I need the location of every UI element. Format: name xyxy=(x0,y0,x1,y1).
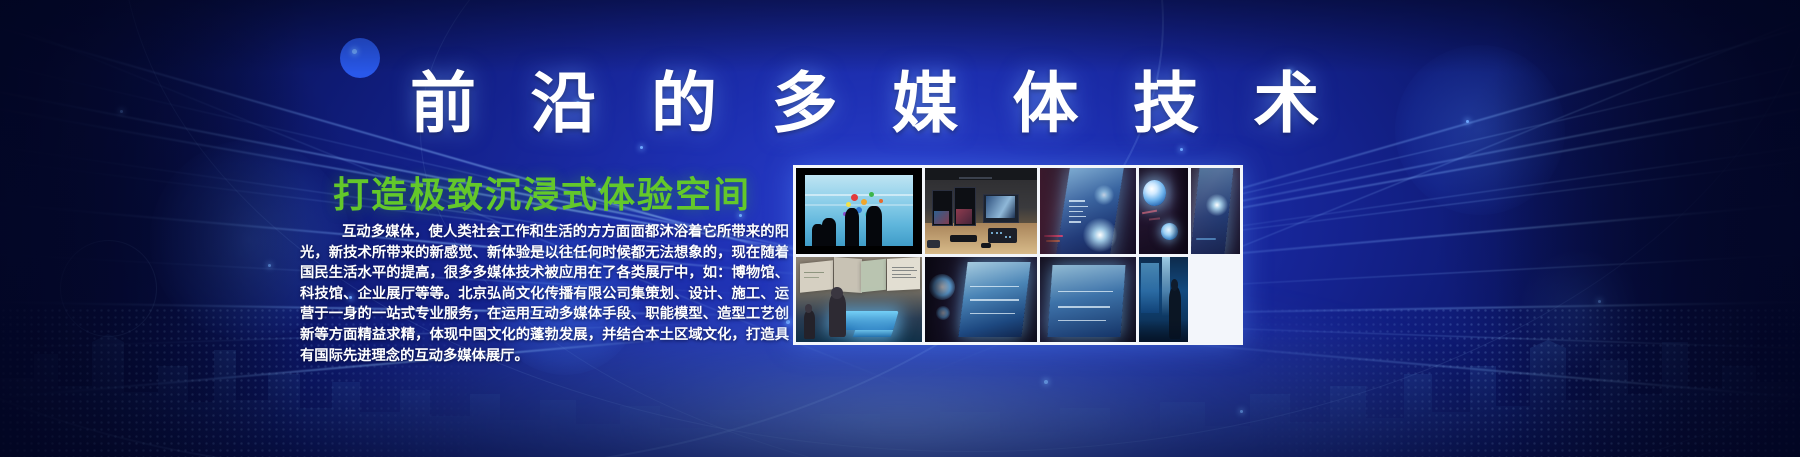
subtitle: 打造极致沉浸式体验空间 xyxy=(333,166,751,218)
page-title: 前 沿 的 多 媒 体 技 术 xyxy=(410,72,1210,138)
gallery-item-blue-corridor-figure[interactable] xyxy=(1139,257,1188,343)
gallery-item-dark-hall-lamps[interactable] xyxy=(1139,168,1188,254)
gallery-item-control-room-monitors[interactable] xyxy=(925,168,1038,254)
description-paragraph: 互动多媒体，使人类社会工作和生活的方方面面都沐浴着它所带来的阳光，新技术所带来的… xyxy=(300,222,789,366)
gallery-item-dark-exhibit-panel[interactable] xyxy=(1040,257,1136,343)
promo-banner: 前 沿 的 多 媒 体 技 术 打造极致沉浸式体验空间 互动多媒体，使人类社会工… xyxy=(0,0,1800,457)
gallery-item-glowing-vitrine[interactable] xyxy=(925,257,1038,343)
gallery-item-touch-table-visitor[interactable] xyxy=(796,257,922,343)
photo-gallery xyxy=(793,165,1243,345)
gallery-item-silhouettes-media-wall[interactable] xyxy=(796,168,922,254)
gallery-item-exhibit-corner[interactable] xyxy=(1191,168,1240,254)
gallery-item-transparent-display[interactable] xyxy=(1040,168,1136,254)
